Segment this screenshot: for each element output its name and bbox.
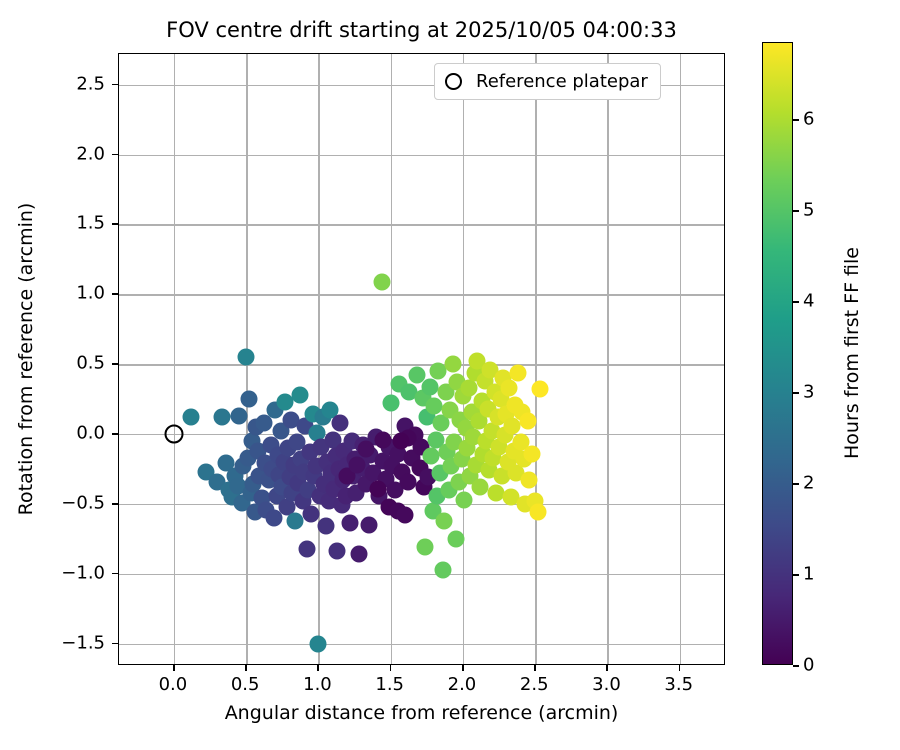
x-tick-label: 3.0 xyxy=(592,674,621,695)
y-tick-label: 1.5 xyxy=(76,213,105,234)
y-tick-mark xyxy=(112,154,118,156)
colorbar-tick-mark xyxy=(793,483,799,485)
x-tick-label: 1.5 xyxy=(375,674,404,695)
colorbar-tick-label: 3 xyxy=(803,382,814,403)
colorbar-tick-label: 5 xyxy=(803,200,814,221)
x-tick-label: 0.0 xyxy=(159,674,188,695)
colorbar-tick-label: 0 xyxy=(803,655,814,676)
legend-entry-label: Reference platepar xyxy=(476,71,648,92)
x-tick-label: 2.5 xyxy=(520,674,549,695)
y-tick-mark xyxy=(112,363,118,365)
chart-root: FOV centre drift starting at 2025/10/05 … xyxy=(0,0,900,750)
colorbar-tick-mark xyxy=(793,574,799,576)
reference-marker-layer xyxy=(119,54,724,664)
x-tick-mark xyxy=(534,665,536,671)
legend: Reference platepar xyxy=(434,63,661,100)
x-tick-mark xyxy=(462,665,464,671)
y-tick-label: 2.5 xyxy=(76,73,105,94)
x-tick-mark xyxy=(390,665,392,671)
colorbar xyxy=(762,42,793,665)
plot-area xyxy=(118,53,725,665)
reference-platepar-marker xyxy=(164,425,183,444)
y-tick-label: −0.5 xyxy=(61,492,105,513)
y-tick-mark xyxy=(112,643,118,645)
colorbar-tick-label: 2 xyxy=(803,473,814,494)
x-tick-label: 0.5 xyxy=(231,674,260,695)
legend-open-circle-icon xyxy=(445,73,462,90)
colorbar-tick-mark xyxy=(793,210,799,212)
colorbar-label: Hours from first FF file xyxy=(841,247,863,459)
y-tick-label: 1.0 xyxy=(76,283,105,304)
y-tick-mark xyxy=(112,223,118,225)
y-tick-mark xyxy=(112,503,118,505)
y-axis-label-wrap: Rotation from reference (arcmin) xyxy=(26,0,27,750)
x-tick-mark xyxy=(245,665,247,671)
y-tick-label: −1.5 xyxy=(61,632,105,653)
colorbar-gradient xyxy=(763,43,792,664)
y-tick-mark xyxy=(112,293,118,295)
chart-title: FOV centre drift starting at 2025/10/05 … xyxy=(118,18,725,42)
y-tick-label: 0.0 xyxy=(76,423,105,444)
x-tick-mark xyxy=(317,665,319,671)
x-tick-label: 1.0 xyxy=(303,674,332,695)
x-tick-label: 3.5 xyxy=(664,674,693,695)
y-axis-label: Rotation from reference (arcmin) xyxy=(15,203,37,516)
y-tick-mark xyxy=(112,573,118,575)
colorbar-tick-label: 1 xyxy=(803,564,814,585)
x-tick-mark xyxy=(606,665,608,671)
y-tick-mark xyxy=(112,433,118,435)
colorbar-tick-label: 6 xyxy=(803,109,814,130)
colorbar-tick-mark xyxy=(793,392,799,394)
y-tick-label: −1.0 xyxy=(61,562,105,583)
y-tick-label: 0.5 xyxy=(76,353,105,374)
x-tick-label: 2.0 xyxy=(448,674,477,695)
x-axis-label: Angular distance from reference (arcmin) xyxy=(118,702,725,724)
x-tick-mark xyxy=(679,665,681,671)
colorbar-tick-mark xyxy=(793,301,799,303)
colorbar-tick-mark xyxy=(793,665,799,667)
y-tick-mark xyxy=(112,84,118,86)
colorbar-tick-mark xyxy=(793,119,799,121)
colorbar-tick-label: 4 xyxy=(803,291,814,312)
colorbar-label-wrap: Hours from first FF file xyxy=(852,0,853,750)
y-tick-label: 2.0 xyxy=(76,143,105,164)
x-tick-mark xyxy=(173,665,175,671)
